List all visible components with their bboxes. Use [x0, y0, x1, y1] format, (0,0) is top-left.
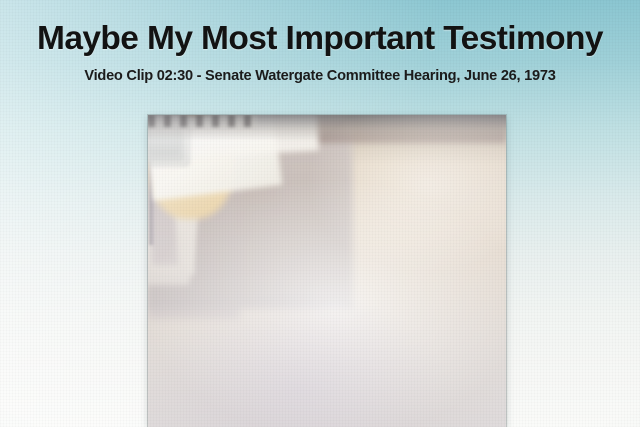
photo-washout-veil	[148, 115, 506, 427]
presentation-slide: Maybe My Most Important Testimony Video …	[0, 0, 640, 427]
video-still-image[interactable]	[148, 115, 506, 427]
slide-title: Maybe My Most Important Testimony	[0, 22, 640, 56]
slide-subtitle: Video Clip 02:30 - Senate Watergate Comm…	[0, 68, 640, 84]
